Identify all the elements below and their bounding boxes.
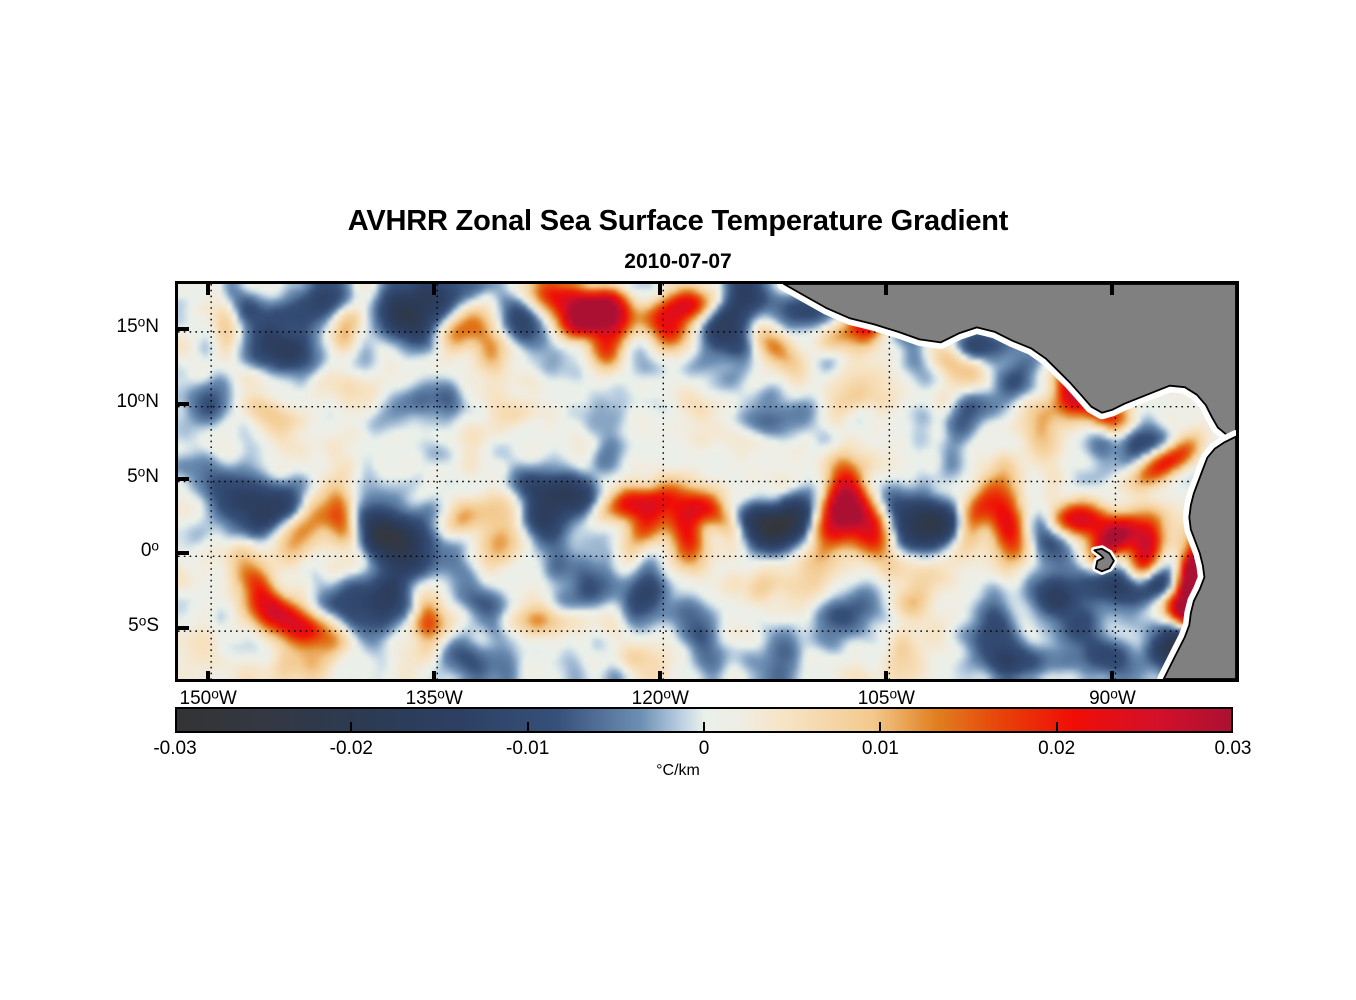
xtick-mark	[884, 284, 888, 295]
colorbar-tick-mark	[527, 722, 529, 731]
colorbar-tick-label: 0	[639, 738, 769, 760]
colorbar-tick-mark	[703, 722, 705, 731]
xtick-mark	[432, 671, 436, 682]
xtick-mark	[206, 284, 210, 295]
ytick-label: 15oN	[39, 316, 159, 338]
page-title: AVHRR Zonal Sea Surface Temperature Grad…	[0, 205, 1356, 238]
ytick-mark	[178, 626, 189, 630]
xtick-mark	[1110, 671, 1114, 682]
ytick-label: 10oN	[39, 391, 159, 413]
xtick-mark	[1110, 284, 1114, 295]
xtick-mark	[884, 671, 888, 682]
xtick-mark	[432, 284, 436, 295]
colorbar-tick-label: 0.03	[1168, 738, 1298, 760]
colorbar-tick-label: -0.02	[286, 738, 416, 760]
ytick-label: 5oN	[39, 466, 159, 488]
colorbar-tick-label: -0.01	[463, 738, 593, 760]
figure-subtitle: 2010-07-07	[0, 250, 1356, 274]
xtick-mark	[206, 671, 210, 682]
ytick-mark	[178, 402, 189, 406]
colorbar-unit-label: °C/km	[0, 762, 1356, 780]
sst-gradient-heatmap	[178, 284, 1236, 679]
colorbar-tick-mark	[350, 722, 352, 731]
ytick-mark	[178, 477, 189, 481]
colorbar-tick-mark	[879, 722, 881, 731]
ytick-mark	[178, 551, 189, 555]
xtick-mark	[658, 284, 662, 295]
figure-canvas: AVHRR Zonal Sea Surface Temperature Grad…	[0, 0, 1356, 1000]
colorbar-tick-label: 0.01	[815, 738, 945, 760]
ytick-label: 0o	[39, 540, 159, 562]
ytick-label: 5oS	[39, 615, 159, 637]
map-plot-area	[175, 281, 1239, 682]
ytick-mark	[178, 327, 189, 331]
colorbar-tick-label: -0.03	[110, 738, 240, 760]
xtick-mark	[658, 671, 662, 682]
colorbar-tick-label: 0.02	[992, 738, 1122, 760]
colorbar-tick-mark	[1056, 722, 1058, 731]
